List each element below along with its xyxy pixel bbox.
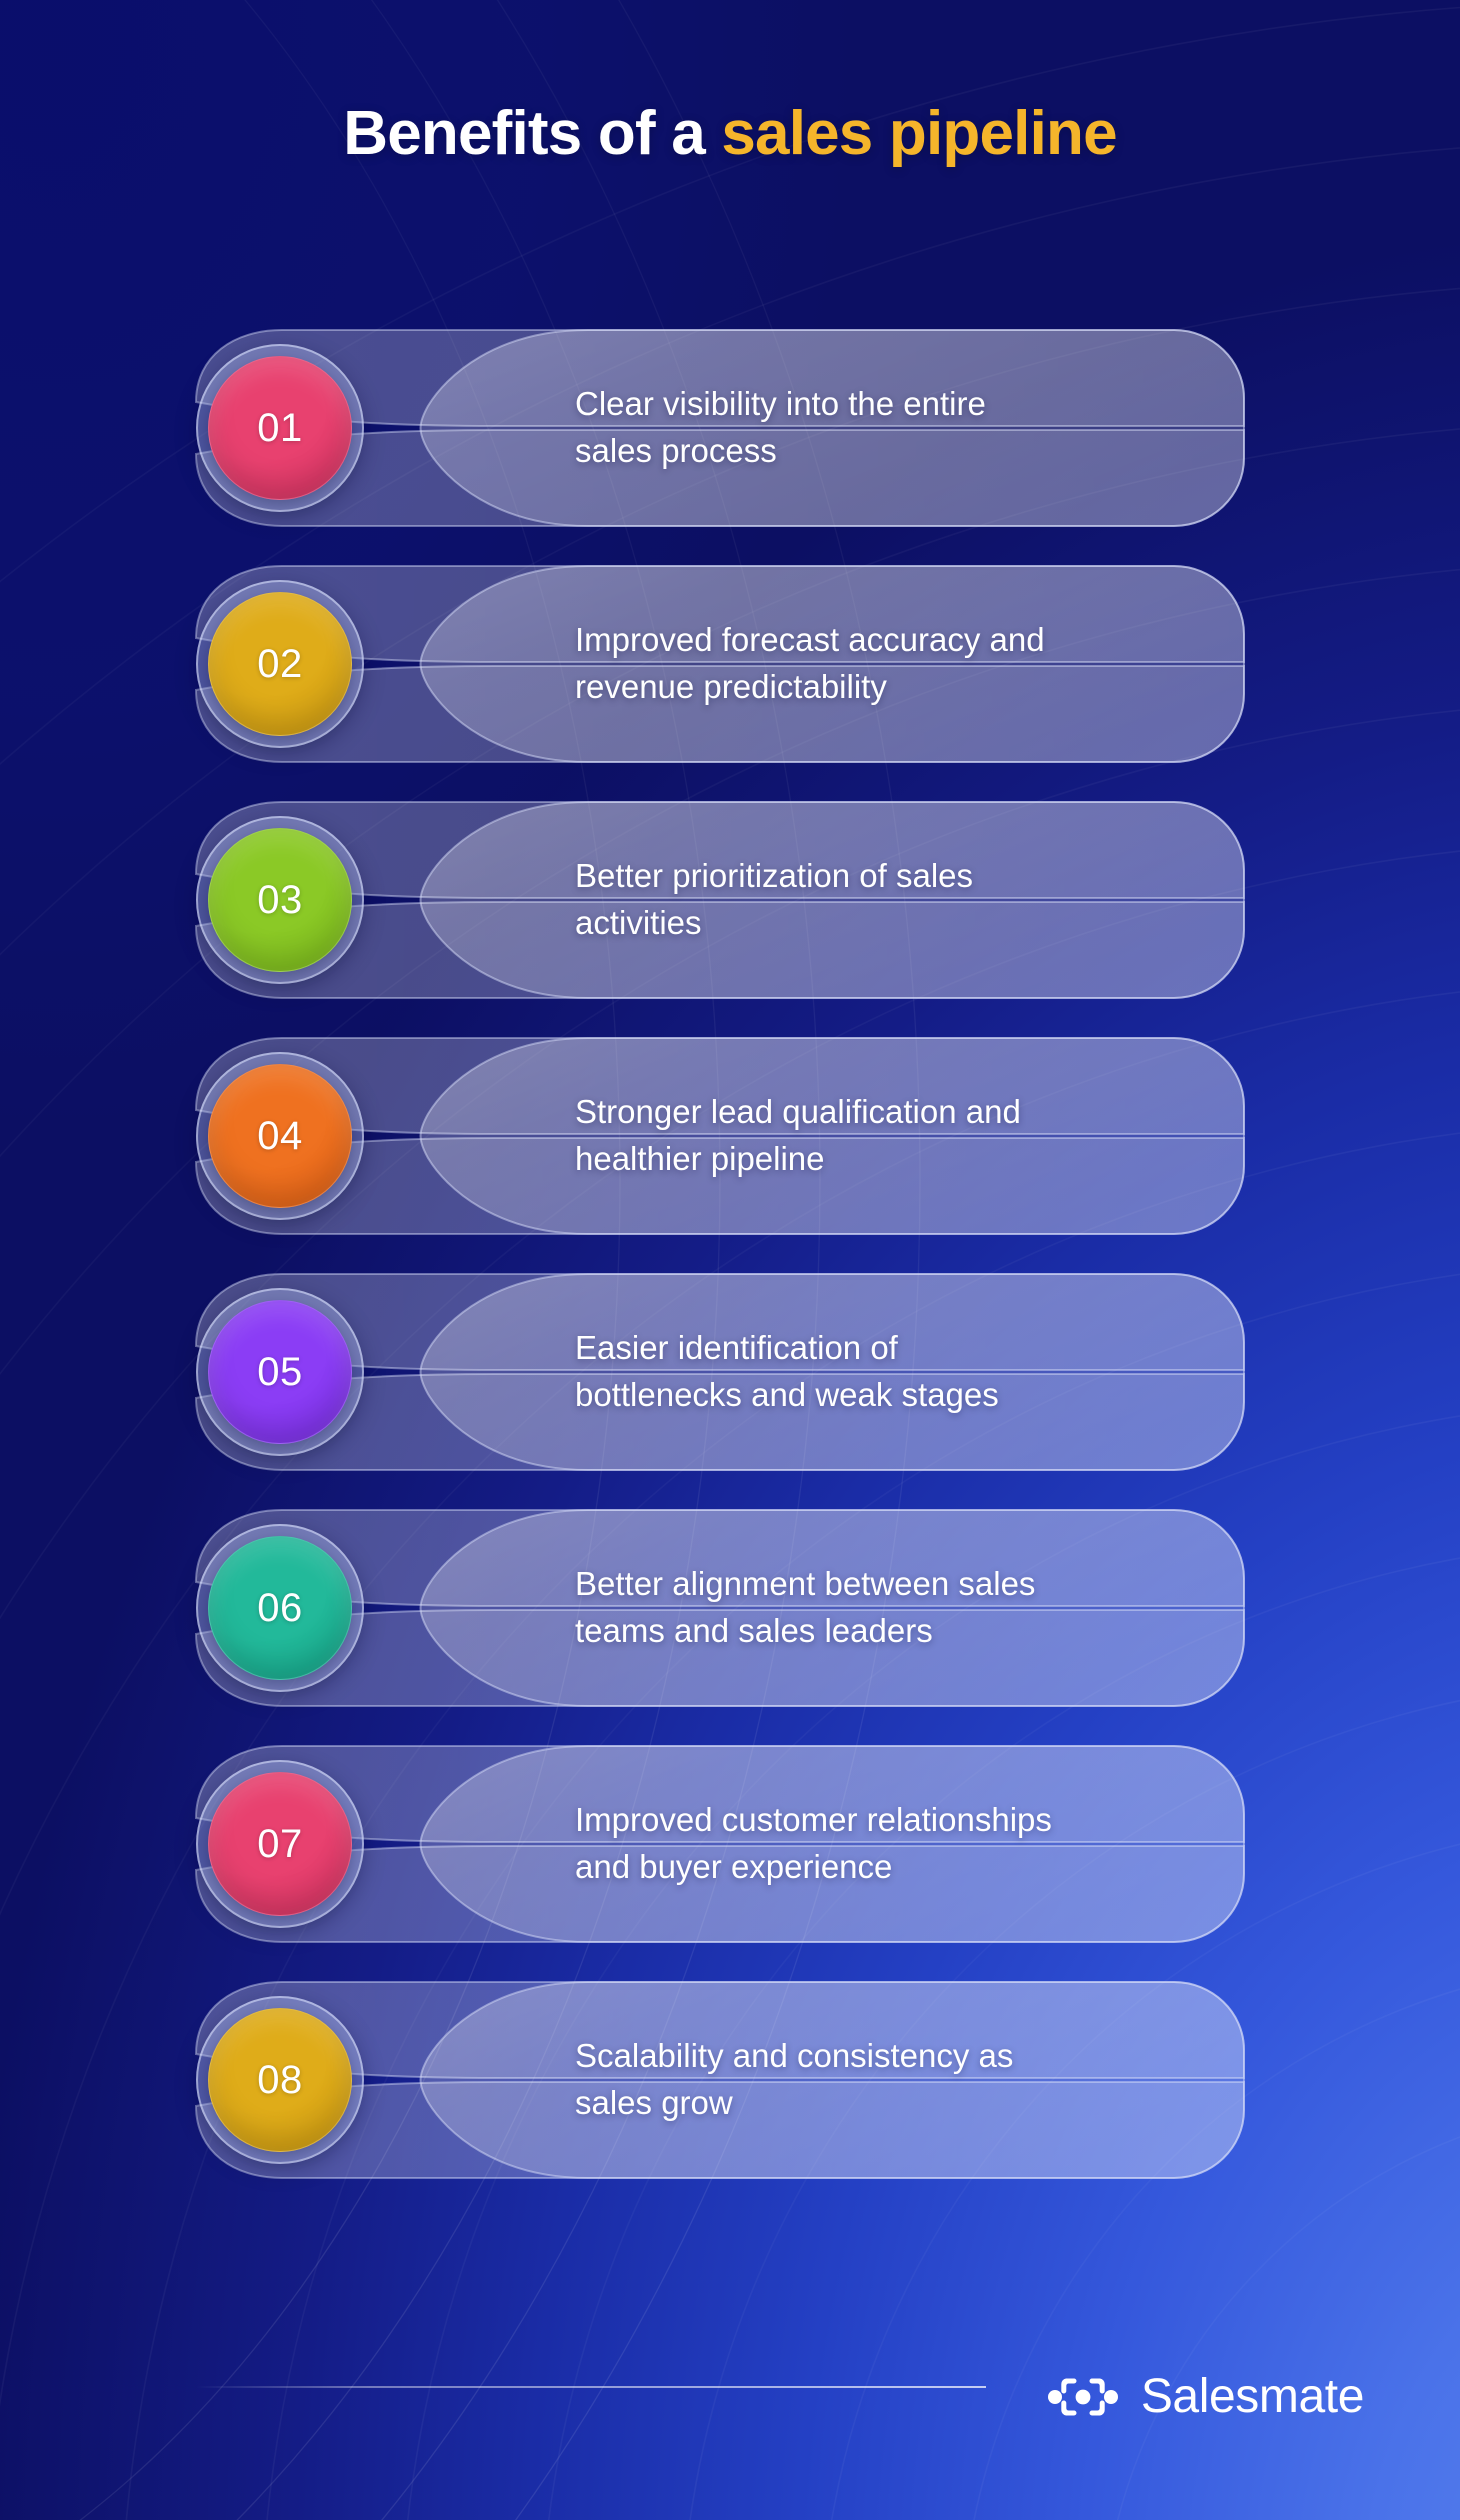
benefit-item: 04 Stronger lead qualification and healt…: [0, 1038, 1460, 1234]
benefit-number-badge[interactable]: 02: [196, 580, 364, 748]
badge-number: 03: [257, 878, 303, 923]
benefit-item: 02 Improved forecast accuracy and revenu…: [0, 566, 1460, 762]
benefit-number-badge[interactable]: 07: [196, 1760, 364, 1928]
benefit-text-line2: sales process: [575, 428, 1215, 475]
benefit-text-line2: teams and sales leaders: [575, 1608, 1215, 1655]
benefit-text-line2: sales grow: [575, 2080, 1215, 2127]
badge-number: 01: [257, 406, 303, 451]
benefit-text-line2: healthier pipeline: [575, 1136, 1215, 1183]
badge-disc: 01: [208, 356, 352, 500]
benefit-text-line2: and buyer experience: [575, 1844, 1215, 1891]
benefit-text: Improved forecast accuracy and revenue p…: [575, 566, 1215, 762]
benefit-text: Stronger lead qualification and healthie…: [575, 1038, 1215, 1234]
badge-disc: 05: [208, 1300, 352, 1444]
badge-disc: 08: [208, 2008, 352, 2152]
benefits-list: 01 Clear visibility into the entire sale…: [0, 330, 1460, 2218]
badge-number: 07: [257, 1822, 303, 1867]
benefit-text-line1: Easier identification of: [575, 1325, 1215, 1372]
benefit-text-line1: Clear visibility into the entire: [575, 381, 1215, 428]
benefit-number-badge[interactable]: 06: [196, 1524, 364, 1692]
benefit-text-line1: Improved customer relationships: [575, 1797, 1215, 1844]
benefit-text: Clear visibility into the entire sales p…: [575, 330, 1215, 526]
benefit-number-badge[interactable]: 01: [196, 344, 364, 512]
benefit-text-line1: Stronger lead qualification and: [575, 1089, 1215, 1136]
benefit-text: Scalability and consistency as sales gro…: [575, 1982, 1215, 2178]
badge-number: 04: [257, 1114, 303, 1159]
badge-disc: 03: [208, 828, 352, 972]
benefit-item: 03 Better prioritization of sales activi…: [0, 802, 1460, 998]
benefit-text-line2: activities: [575, 900, 1215, 947]
benefit-text: Improved customer relationships and buye…: [575, 1746, 1215, 1942]
badge-number: 05: [257, 1350, 303, 1395]
badge-disc: 04: [208, 1064, 352, 1208]
benefit-item: 01 Clear visibility into the entire sale…: [0, 330, 1460, 526]
benefit-text-line1: Better prioritization of sales: [575, 853, 1215, 900]
badge-number: 08: [257, 2058, 303, 2103]
benefit-text-line1: Better alignment between sales: [575, 1561, 1215, 1608]
benefit-text: Better prioritization of sales activitie…: [575, 802, 1215, 998]
benefit-text: Easier identification of bottlenecks and…: [575, 1274, 1215, 1470]
badge-disc: 07: [208, 1772, 352, 1916]
benefit-item: 06 Better alignment between sales teams …: [0, 1510, 1460, 1706]
benefit-item: 07 Improved customer relationships and b…: [0, 1746, 1460, 1942]
benefit-text-line1: Improved forecast accuracy and: [575, 617, 1215, 664]
page-title: Benefits of a sales pipeline: [0, 98, 1460, 169]
brand-logo[interactable]: Salesmate: [1047, 2369, 1364, 2424]
page-title-accent: sales pipeline: [721, 99, 1116, 168]
benefit-number-badge[interactable]: 04: [196, 1052, 364, 1220]
badge-disc: 02: [208, 592, 352, 736]
badge-disc: 06: [208, 1536, 352, 1680]
benefit-text: Better alignment between sales teams and…: [575, 1510, 1215, 1706]
brand-name: Salesmate: [1141, 2369, 1364, 2424]
page-title-plain: Benefits of a: [343, 99, 721, 168]
benefit-text-line2: bottlenecks and weak stages: [575, 1372, 1215, 1419]
benefit-text-line1: Scalability and consistency as: [575, 2033, 1215, 2080]
benefit-text-line2: revenue predictability: [575, 664, 1215, 711]
benefit-item: 05 Easier identification of bottlenecks …: [0, 1274, 1460, 1470]
benefit-item: 08 Scalability and consistency as sales …: [0, 1982, 1460, 2178]
benefit-number-badge[interactable]: 08: [196, 1996, 364, 2164]
benefit-number-badge[interactable]: 03: [196, 816, 364, 984]
badge-number: 06: [257, 1586, 303, 1631]
benefit-number-badge[interactable]: 05: [196, 1288, 364, 1456]
badge-number: 02: [257, 642, 303, 687]
salesmate-nodes-icon: [1047, 2374, 1119, 2420]
footer-divider: [196, 2386, 986, 2388]
